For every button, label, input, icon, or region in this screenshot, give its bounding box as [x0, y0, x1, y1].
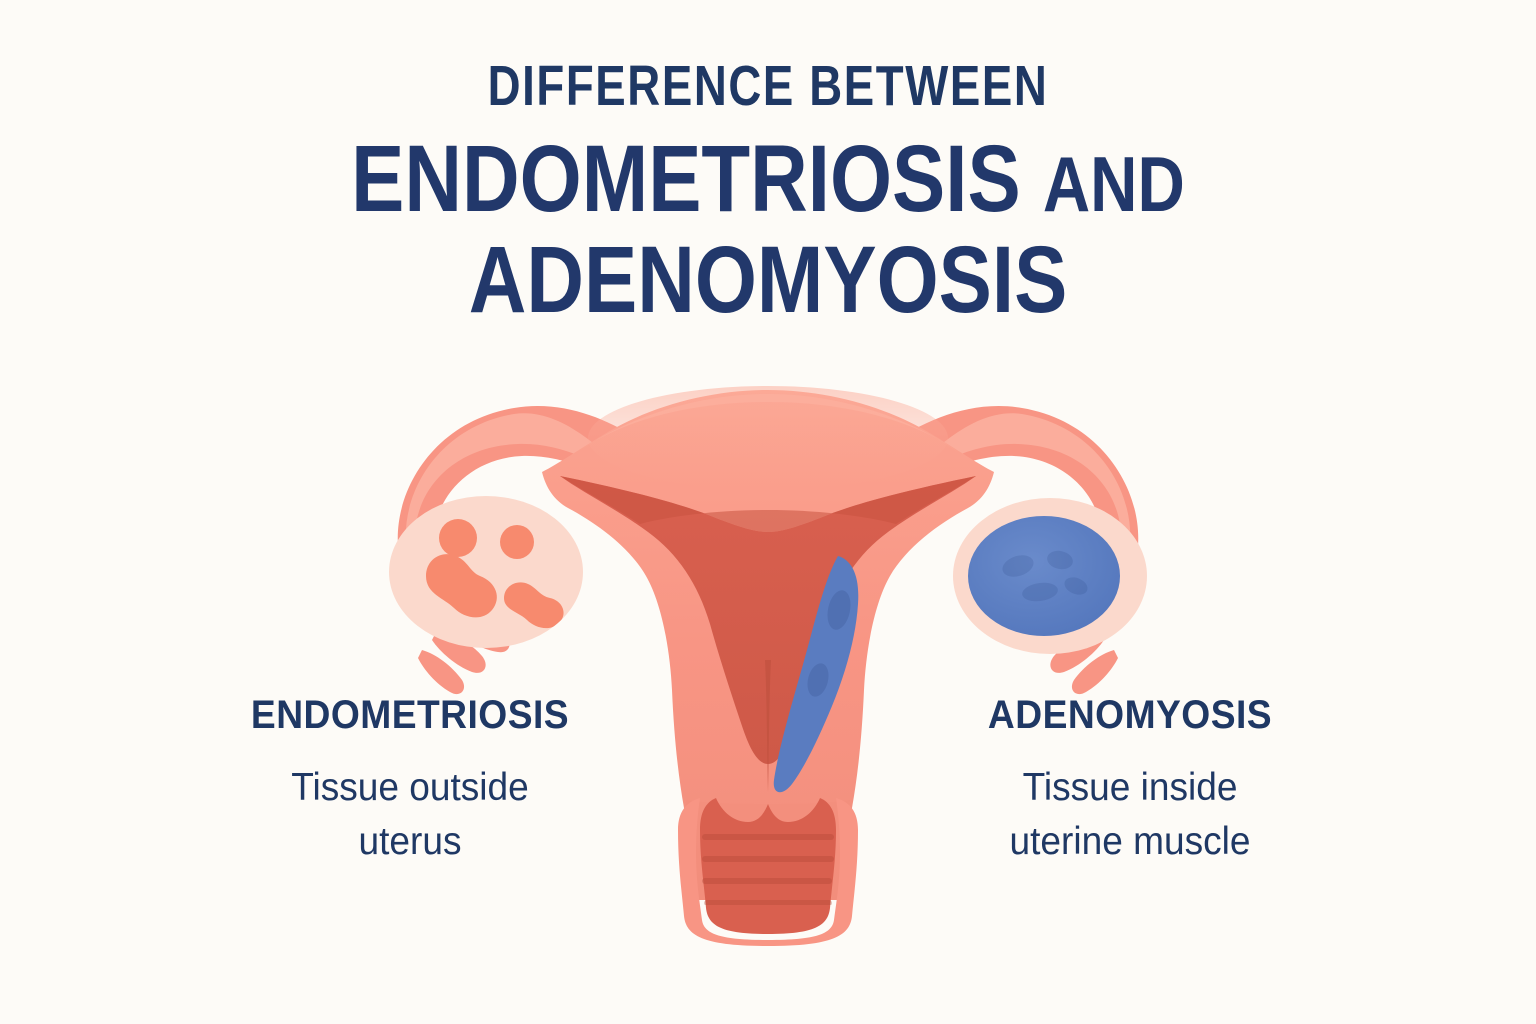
infographic-page: DIFFERENCE BETWEEN ENDOMETRIOSIS AND ADE… [0, 0, 1536, 1024]
caption-right-body: Tissue inside uterine muscle [883, 761, 1377, 869]
endometrioma-cyst [968, 516, 1120, 636]
ovary-left [389, 496, 583, 648]
lesion-dot-1 [439, 519, 477, 557]
caption-left-line2: uterus [359, 820, 462, 863]
page-title: ENDOMETRIOSIS AND ADENOMYOSIS [123, 129, 1413, 330]
ovary-right [953, 498, 1147, 654]
vagina-shape [700, 798, 836, 934]
uterus-diagram [318, 360, 1218, 960]
caption-endometriosis: ENDOMETRIOSIS Tissue outside uterus [150, 695, 670, 869]
caption-left-body: Tissue outside uterus [163, 761, 657, 869]
title-block: DIFFERENCE BETWEEN ENDOMETRIOSIS AND ADE… [0, 58, 1536, 330]
caption-right-heading: ADENOMYOSIS [888, 695, 1372, 735]
uterus-cross-section-svg [318, 360, 1218, 960]
lesion-dot-2 [500, 525, 534, 559]
title-line3-adenomyosis: ADENOMYOSIS [469, 227, 1068, 333]
fundus-sheen [588, 386, 948, 490]
caption-right-line1: Tissue inside [1023, 766, 1238, 809]
caption-left-heading: ENDOMETRIOSIS [168, 695, 652, 735]
caption-left-line1: Tissue outside [291, 766, 529, 809]
title-line2-endometriosis: ENDOMETRIOSIS [351, 126, 1021, 232]
title-line2-and: AND [1043, 140, 1185, 228]
caption-adenomyosis: ADENOMYOSIS Tissue inside uterine muscle [870, 695, 1390, 869]
title-kicker: DIFFERENCE BETWEEN [154, 58, 1383, 115]
caption-right-line2: uterine muscle [1010, 820, 1251, 863]
